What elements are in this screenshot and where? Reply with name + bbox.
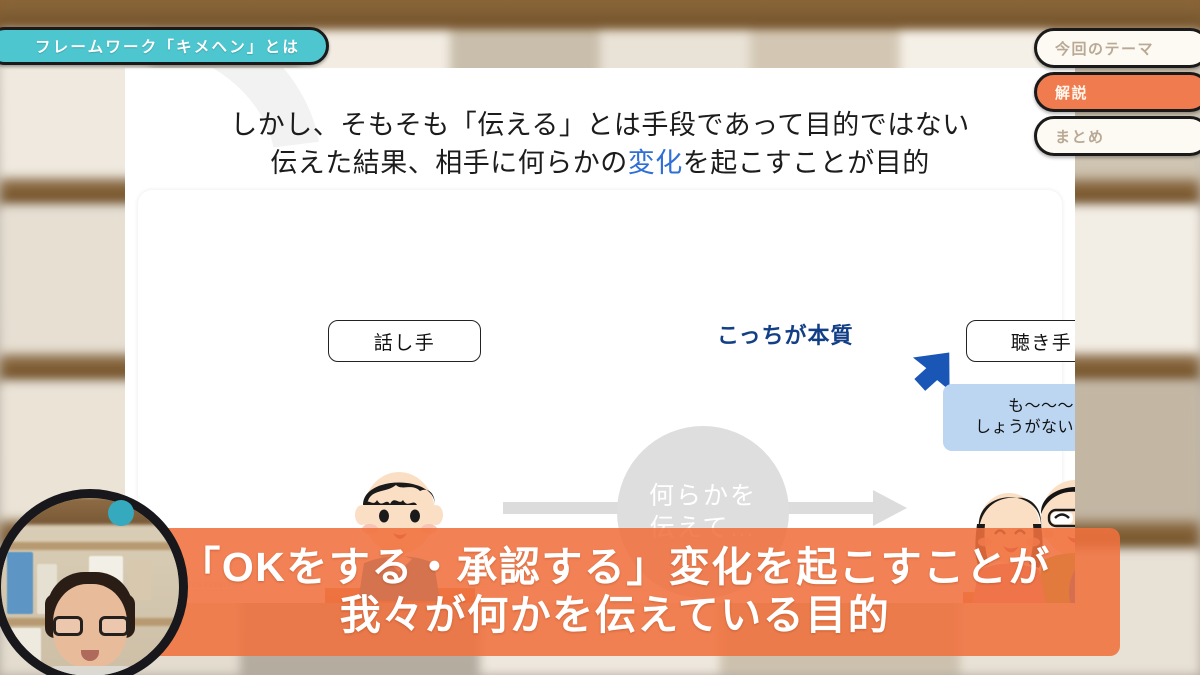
- subtitle-line-1: 「OKをする・承認する」変化を起こすことが: [179, 544, 1050, 592]
- headline-highlight-change: 変化: [628, 148, 683, 178]
- headline-line-1: しかし、そもそも「伝える」とは手段であって目的ではない: [125, 106, 1075, 144]
- listener-tag: 聴き手: [966, 320, 1075, 362]
- presenter-glasses-icon: [53, 616, 129, 636]
- chapter-item-theme[interactable]: 今回のテーマ: [1034, 28, 1200, 68]
- chapter-item-summary[interactable]: まとめ: [1034, 116, 1200, 156]
- listener-tag-label: 聴き手: [1011, 328, 1073, 355]
- webcam-video-frame: [1, 498, 179, 675]
- listener-speech-bubble: も〜〜〜 しょうがないナア: [943, 384, 1075, 451]
- slide-headline: しかし、そもそも「伝える」とは手段であって目的ではない 伝えた結果、相手に何らか…: [125, 106, 1075, 183]
- speech-bubble-line-2: しょうがないナア: [975, 418, 1075, 438]
- shelf-band-top: [0, 0, 1200, 30]
- center-circle-line-1: 何らかを: [649, 480, 757, 513]
- webcam-shelf-1: [1, 542, 181, 550]
- presenter-lens-right: [99, 616, 129, 636]
- title-pill-label: フレームワーク「キメヘン」とは: [35, 35, 300, 57]
- subtitle-line-2: 我々が何かを伝えている目的: [340, 592, 890, 640]
- webcam-shelf-item-5: [9, 628, 41, 668]
- chapter-item-explanation-label: 解説: [1055, 82, 1088, 103]
- slide-canvas: しかし、そもそも「伝える」とは手段であって目的ではない 伝えた結果、相手に何らか…: [125, 68, 1075, 603]
- presenter-webcam: [0, 489, 188, 675]
- subtitle-banner: 「OKをする・承認する」変化を起こすことが 我々が何かを伝えている目的: [110, 528, 1120, 656]
- speech-bubble-line-1: も〜〜〜: [1008, 397, 1074, 417]
- headline-line-2: 伝えた結果、相手に何らかの変化を起こすことが目的: [125, 144, 1075, 182]
- chapter-item-summary-label: まとめ: [1055, 126, 1105, 147]
- chapter-item-theme-label: 今回のテーマ: [1055, 38, 1154, 59]
- webcam-shelf-item-4: [129, 560, 151, 600]
- title-pill: フレームワーク「キメヘン」とは: [0, 27, 329, 65]
- presenter-lens-left: [53, 616, 83, 636]
- speaker-tag-label: 話し手: [374, 328, 436, 355]
- headline-line-2-suffix: を起こすことが目的: [683, 148, 930, 178]
- chapter-nav: 今回のテーマ 解説 まとめ: [1034, 28, 1200, 156]
- webcam-shelf-item-1: [7, 552, 33, 614]
- webcam-accent-dot: [108, 500, 134, 526]
- headline-line-2-prefix: 伝えた結果、相手に何らかの: [270, 148, 628, 178]
- speaker-tag: 話し手: [328, 320, 481, 362]
- essence-note: こっちが本質: [717, 318, 853, 350]
- chapter-item-explanation[interactable]: 解説: [1034, 72, 1200, 112]
